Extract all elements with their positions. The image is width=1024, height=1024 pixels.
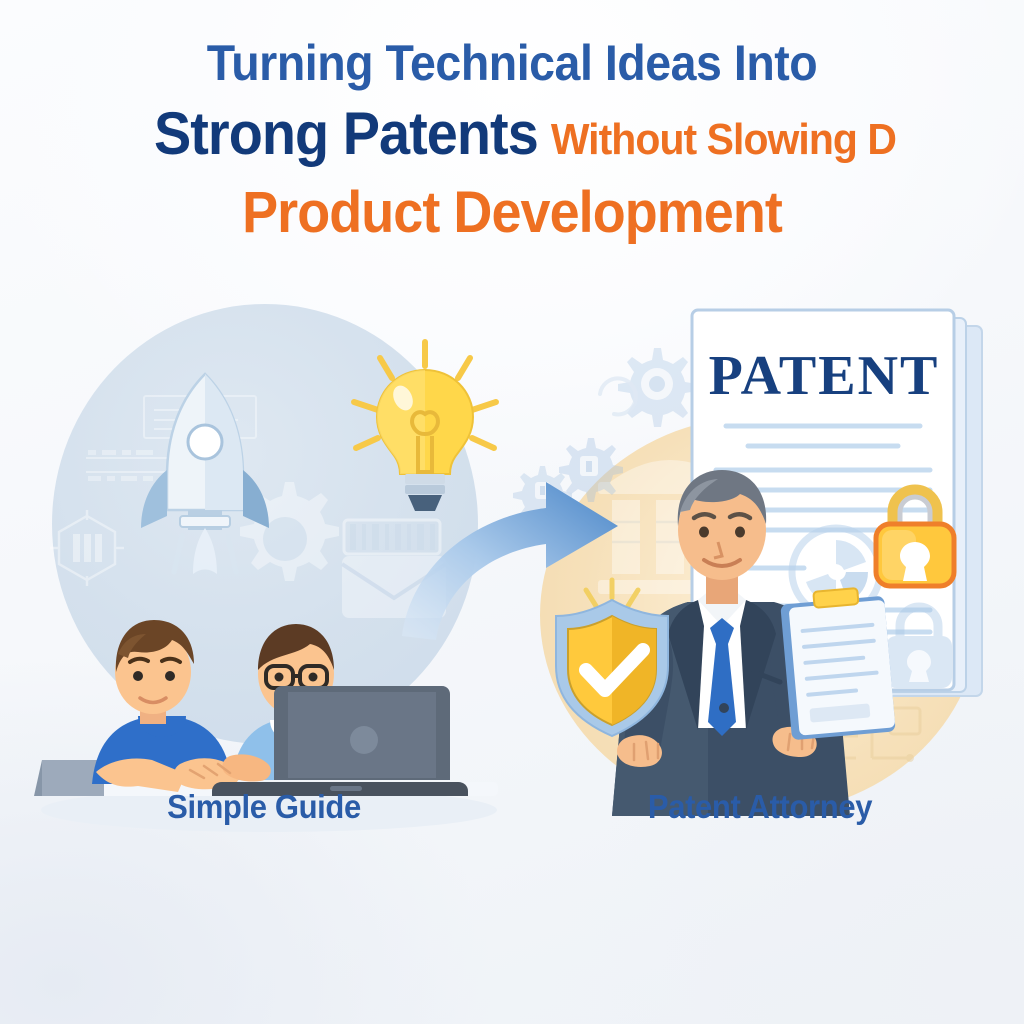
title-line-1: Turning Technical Ideas Into — [36, 38, 988, 94]
clipboard-icon — [778, 584, 914, 744]
caption-patent-attorney: Patent Attorney — [534, 788, 985, 826]
poster-canvas: Turning Technical Ideas Into Strong Pate… — [0, 0, 1024, 1024]
caption-simple-guide: Simple Guide — [38, 788, 489, 826]
process-arrow — [396, 452, 656, 642]
title-line-2: Strong PatentsWithout Slowing D — [49, 94, 1001, 170]
poster-title: Turning Technical Ideas Into Strong Pate… — [0, 38, 1024, 242]
title-strong-patents: Strong Patents — [154, 100, 538, 167]
patent-document-title: PATENT — [709, 345, 940, 407]
title-without-slowing: Without Slowing D — [551, 115, 896, 164]
title-line-3: Product Development — [36, 170, 988, 242]
